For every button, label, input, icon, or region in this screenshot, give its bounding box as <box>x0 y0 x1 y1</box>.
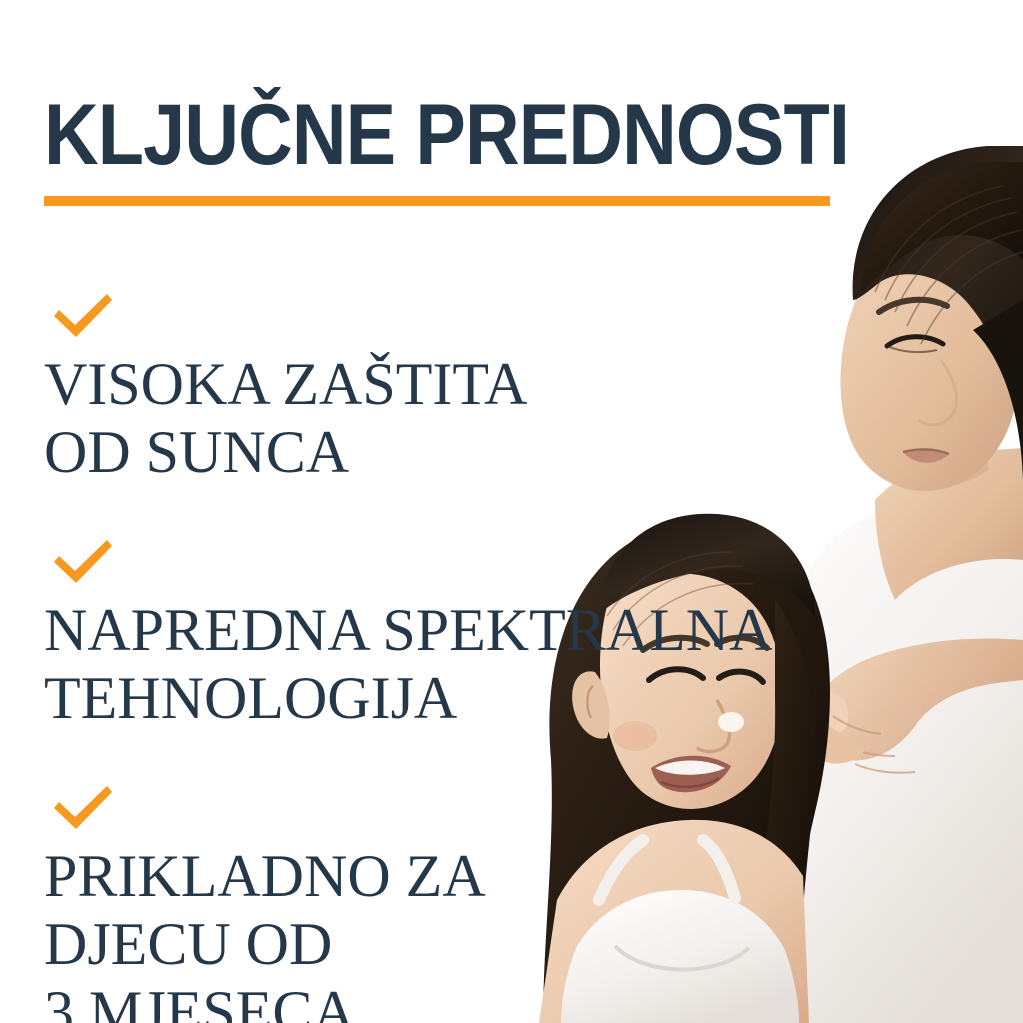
poster-root: KLJUČNE PREDNOSTI VISOKA ZAŠTITA OD SUNC… <box>0 0 1023 1023</box>
list-item-text: PRIKLADNO ZA DJECU OD 3 MJESECA STAROSTI <box>44 842 604 1023</box>
list-item-text: VISOKA ZAŠTITA OD SUNCA <box>44 350 604 486</box>
page-title: KLJUČNE PREDNOSTI <box>44 92 748 178</box>
list-item-text: NAPREDNA SPEKTRALNA TEHNOLOGIJA <box>44 596 604 732</box>
list-item: PRIKLADNO ZA DJECU OD 3 MJESECA STAROSTI <box>44 774 604 1023</box>
list-item: VISOKA ZAŠTITA OD SUNCA <box>44 282 604 486</box>
list-item-line: DJECU OD <box>44 910 604 978</box>
title-underline-rule <box>44 196 830 206</box>
list-item-line: 3 MJESECA <box>44 978 604 1023</box>
check-icon <box>52 784 114 832</box>
check-icon <box>52 292 114 340</box>
list-item-line: NAPREDNA SPEKTRALNA <box>44 596 604 664</box>
list-item-line: TEHNOLOGIJA <box>44 664 604 732</box>
header: KLJUČNE PREDNOSTI <box>44 92 844 178</box>
list-item-line: VISOKA ZAŠTITA <box>44 350 604 418</box>
check-icon <box>52 538 114 586</box>
list-item-line: PRIKLADNO ZA <box>44 842 604 910</box>
list-item-line: OD SUNCA <box>44 418 604 486</box>
benefits-list: VISOKA ZAŠTITA OD SUNCA NAPREDNA SPEKTRA… <box>44 282 604 1023</box>
list-item: NAPREDNA SPEKTRALNA TEHNOLOGIJA <box>44 528 604 732</box>
